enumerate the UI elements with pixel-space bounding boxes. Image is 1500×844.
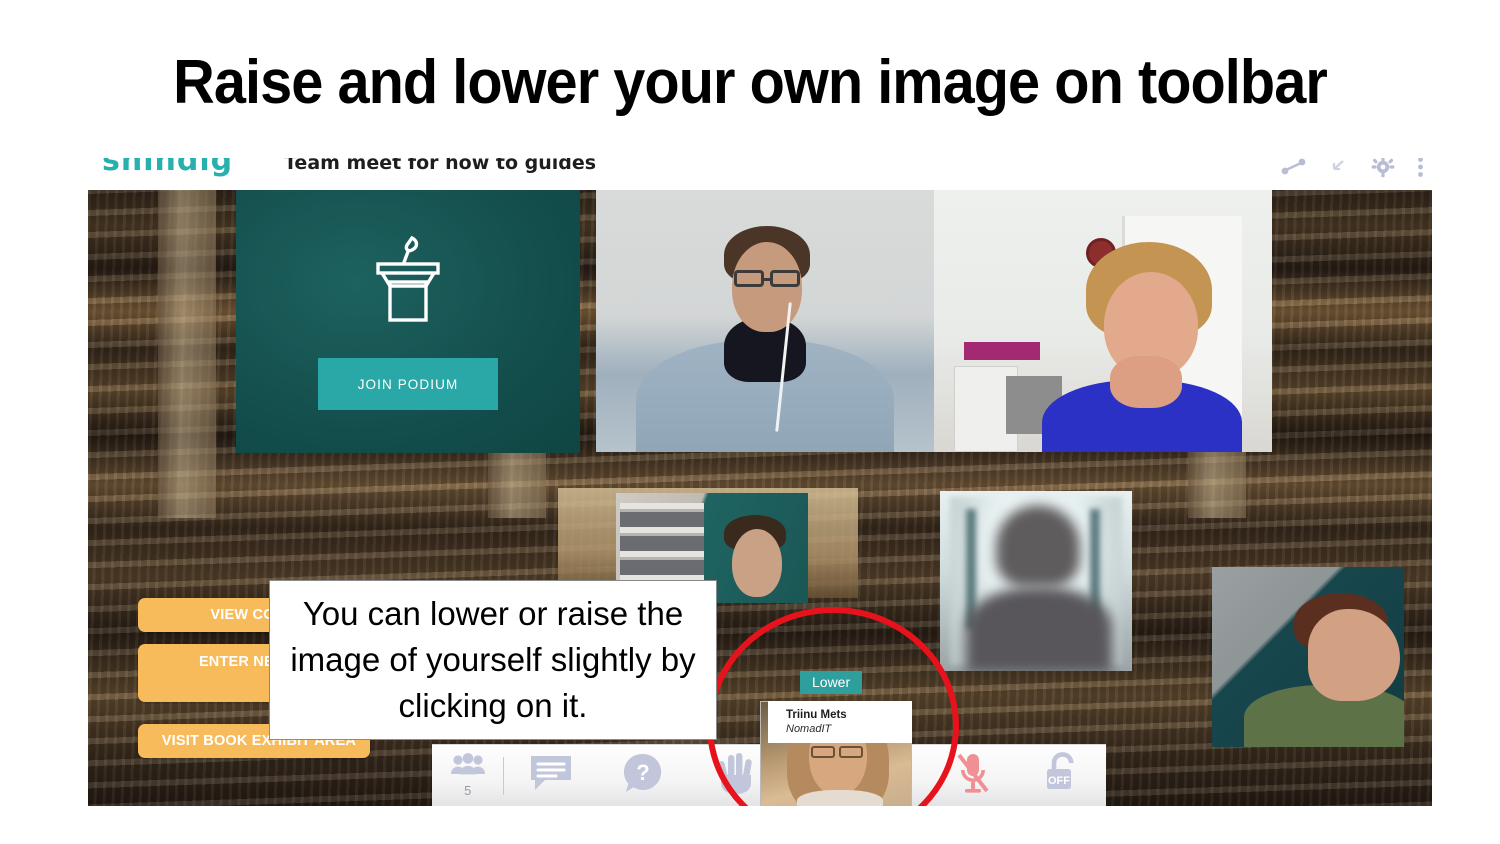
join-podium-panel[interactable]: JOIN PODIUM — [236, 190, 580, 453]
join-podium-button[interactable]: JOIN PODIUM — [318, 358, 498, 410]
avatar-hand — [1110, 356, 1182, 408]
page-title: Raise and lower your own image on toolba… — [53, 44, 1448, 122]
share-link-icon[interactable] — [1281, 158, 1307, 176]
avatar-face — [732, 529, 782, 597]
lock-button[interactable]: OFF — [1017, 745, 1106, 806]
podium-lectern-icon — [360, 232, 456, 333]
avatar-torso — [797, 790, 883, 806]
avatar-glasses-bridge — [764, 278, 770, 281]
app-top-bar: shindig Team meet for how to guides — [88, 158, 1432, 190]
microphone-button[interactable] — [929, 745, 1018, 806]
topbar-icon-group — [1281, 158, 1424, 178]
participants-button[interactable]: 5 — [432, 745, 503, 806]
help-icon: ? — [622, 752, 664, 799]
raise-hand-icon — [716, 751, 756, 800]
slide-root: Raise and lower your own image on toolba… — [0, 0, 1500, 844]
chat-icon — [529, 754, 573, 797]
self-view-organization: NomadIT — [786, 722, 912, 736]
arrow-icon[interactable] — [1329, 158, 1349, 176]
participant-tile-woman-blue[interactable] — [934, 190, 1272, 452]
callout-text: You can lower or raise the image of your… — [284, 591, 702, 729]
more-vertical-icon[interactable] — [1417, 158, 1424, 178]
participant-tile-blurred-avatar[interactable] — [940, 491, 1132, 671]
avatar-glasses-left — [811, 746, 835, 758]
microphone-muted-icon — [954, 751, 992, 800]
svg-text:?: ? — [636, 760, 649, 785]
brand-logo: shindig — [102, 158, 233, 178]
avatar-silhouette-head — [996, 505, 1080, 587]
self-view-thumbnail[interactable]: Lower Triinu Mets NomadIT — [760, 657, 912, 806]
avatar-glasses-right — [770, 270, 800, 287]
participants-icon — [450, 753, 486, 782]
gear-icon[interactable] — [1371, 158, 1395, 178]
participant-tile-man-green-shirt[interactable] — [1212, 567, 1404, 747]
venue-pillar — [158, 188, 216, 518]
avatar-face — [732, 242, 802, 332]
help-button[interactable]: ? — [597, 745, 690, 806]
callout-box: You can lower or raise the image of your… — [269, 580, 717, 740]
lower-tooltip: Lower — [800, 671, 862, 694]
meeting-title: Team meet for how to guides — [284, 158, 596, 174]
self-view-name: Triinu Mets — [786, 708, 912, 722]
participant-tile-man-hoodie[interactable] — [596, 190, 934, 452]
lock-off-icon: OFF — [1042, 751, 1082, 800]
self-view-name-card: Triinu Mets NomadIT — [768, 701, 912, 743]
avatar-glasses-left — [734, 270, 764, 287]
avatar-silhouette-body — [966, 587, 1112, 671]
participants-count: 5 — [464, 783, 471, 798]
lock-state-label: OFF — [1048, 775, 1070, 787]
room-box — [964, 342, 1040, 360]
chat-button[interactable] — [504, 745, 597, 806]
avatar-glasses-right — [839, 746, 863, 758]
